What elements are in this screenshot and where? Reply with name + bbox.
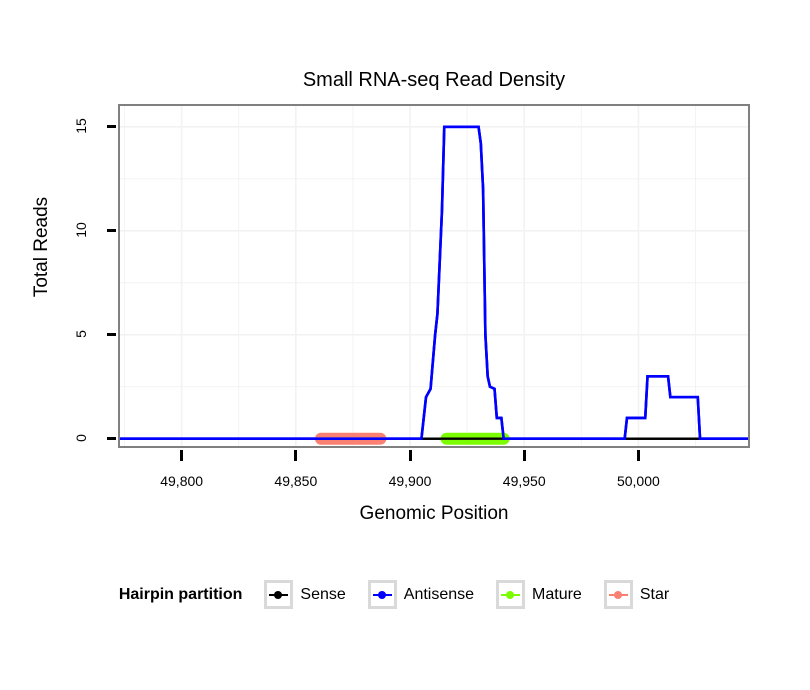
legend-dot-icon bbox=[506, 591, 514, 599]
legend-key-icon bbox=[368, 580, 397, 609]
legend-label: Sense bbox=[300, 586, 345, 604]
legend-label: Mature bbox=[532, 586, 582, 604]
page-title: Small RNA-seq Read Density bbox=[118, 68, 750, 92]
legend-key-icon bbox=[264, 580, 293, 609]
legend-items: SenseAntisenseMatureStar bbox=[264, 580, 691, 609]
plot-panel bbox=[118, 104, 750, 448]
legend-item-antisense[interactable]: Antisense bbox=[368, 580, 488, 609]
y-tick-mark bbox=[107, 437, 116, 440]
data-series-layer bbox=[120, 106, 748, 446]
x-tick-mark bbox=[294, 450, 297, 461]
plot-area bbox=[120, 106, 748, 446]
x-tick-label: 49,950 bbox=[479, 473, 569, 489]
x-tick-label: 50,000 bbox=[593, 473, 683, 489]
y-axis-title: Total Reads bbox=[31, 167, 53, 327]
x-tick-label: 49,900 bbox=[365, 473, 455, 489]
y-tick-label: 0 bbox=[73, 418, 89, 458]
x-tick-mark bbox=[180, 450, 183, 461]
x-tick-label: 49,800 bbox=[137, 473, 227, 489]
legend-item-sense[interactable]: Sense bbox=[264, 580, 359, 609]
legend-key-icon bbox=[604, 580, 633, 609]
x-tick-label: 49,850 bbox=[251, 473, 341, 489]
x-tick-mark bbox=[637, 450, 640, 461]
chart-figure: Small RNA-seq Read Density Total Reads 0… bbox=[0, 0, 810, 690]
x-tick-mark bbox=[523, 450, 526, 461]
legend-label: Star bbox=[640, 586, 669, 604]
legend: Hairpin partition SenseAntisenseMatureSt… bbox=[0, 580, 810, 609]
legend-key-icon bbox=[496, 580, 525, 609]
legend-dot-icon bbox=[614, 591, 622, 599]
legend-item-star[interactable]: Star bbox=[604, 580, 683, 609]
series-antisense-overlay bbox=[120, 127, 748, 439]
series-antisense bbox=[120, 127, 748, 439]
y-tick-mark bbox=[107, 125, 116, 128]
legend-label: Antisense bbox=[404, 586, 474, 604]
y-tick-mark bbox=[107, 229, 116, 232]
y-tick-label: 10 bbox=[73, 210, 89, 250]
legend-title: Hairpin partition bbox=[119, 586, 243, 604]
legend-item-mature[interactable]: Mature bbox=[496, 580, 596, 609]
x-axis-title: Genomic Position bbox=[118, 503, 750, 525]
legend-dot-icon bbox=[274, 591, 282, 599]
x-tick-mark bbox=[409, 450, 412, 461]
y-tick-label: 15 bbox=[73, 106, 89, 146]
y-tick-label: 5 bbox=[73, 314, 89, 354]
legend-dot-icon bbox=[378, 591, 386, 599]
y-tick-mark bbox=[107, 333, 116, 336]
